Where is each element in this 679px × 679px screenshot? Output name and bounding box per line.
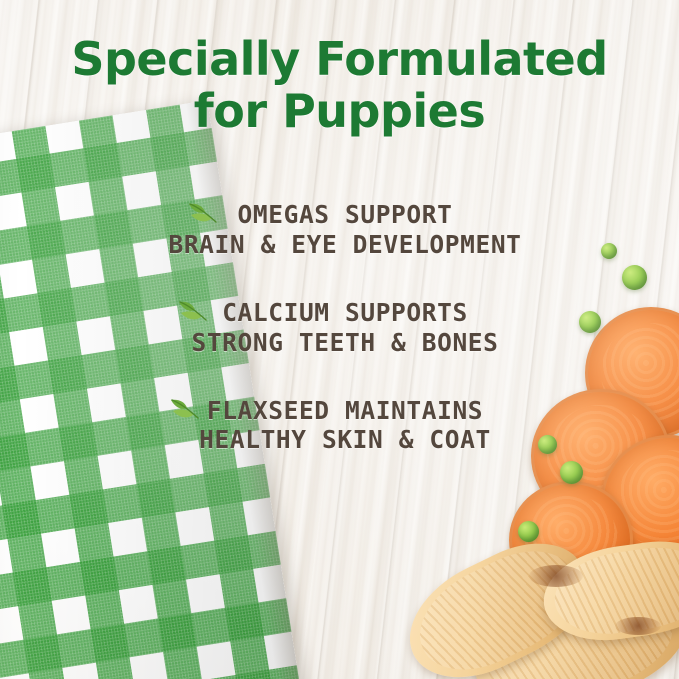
benefit-line-2: Brain & Eye Development	[150, 230, 540, 260]
benefit-line-1: Calcium Supports	[150, 298, 540, 328]
benefit-item: Calcium Supports Strong Teeth & Bones	[150, 298, 540, 358]
benefit-item: Flaxseed Maintains Healthy Skin & Coat	[150, 396, 540, 456]
leaf-icon	[170, 397, 200, 421]
headline-line-2: for Puppies	[0, 86, 679, 138]
product-feature-image: Specially Formulated for Puppies Omegas …	[0, 0, 679, 679]
benefits-list: Omegas Support Brain & Eye Development C…	[150, 200, 540, 493]
page-title: Specially Formulated for Puppies	[0, 34, 679, 138]
benefit-item: Omegas Support Brain & Eye Development	[150, 200, 540, 260]
leaf-icon	[188, 201, 218, 225]
headline-line-1: Specially Formulated	[71, 32, 607, 86]
leaf-icon	[178, 299, 208, 323]
benefit-line-2: Strong Teeth & Bones	[150, 328, 540, 358]
benefit-line-1: Flaxseed Maintains	[150, 396, 540, 426]
benefit-line-2: Healthy Skin & Coat	[150, 425, 540, 455]
